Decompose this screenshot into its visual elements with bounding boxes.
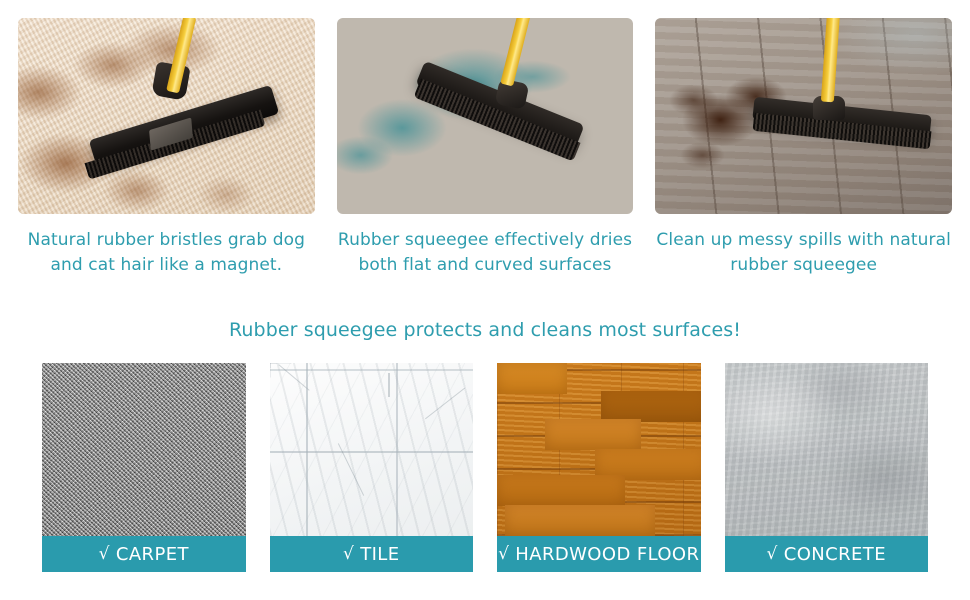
section-headline: Rubber squeegee protects and cleans most… (0, 319, 970, 341)
surface-card-hardwood: √ HARDWOOD FLOOR (497, 363, 701, 572)
marble-vein (388, 373, 390, 397)
swatch-white-marble-tile-texture (270, 363, 474, 536)
wood-plank (497, 475, 625, 506)
surface-label-tile: √ TILE (270, 536, 474, 572)
surface-label-text: HARDWOOD FLOOR (515, 544, 699, 565)
checkmark-icon: √ (343, 544, 354, 564)
photo-rubber-squeegee-drying-water-spill-on-grey-wood-floor (337, 18, 634, 214)
surface-label-carpet: √ CARPET (42, 536, 246, 572)
surface-card-carpet: √ CARPET (42, 363, 246, 572)
tile-grout-line (270, 369, 474, 371)
wood-floor-coffee-spill-scene (655, 18, 952, 214)
surface-card-tile: √ TILE (270, 363, 474, 572)
feature-caption: Rubber squeegee effectively dries both f… (337, 228, 634, 277)
surface-label-hardwood-floor: √ HARDWOOD FLOOR (497, 536, 701, 572)
swatch-grey-carpet-texture (42, 363, 246, 536)
feature-card-water-drying: Rubber squeegee effectively dries both f… (337, 18, 634, 277)
carpet-pet-hair-scene (18, 18, 315, 214)
wood-plank (545, 419, 641, 450)
checkmark-icon: √ (767, 544, 778, 564)
wood-floor-water-spill-scene (337, 18, 634, 214)
surface-label-text: CARPET (116, 544, 189, 565)
checkmark-icon: √ (99, 544, 110, 564)
photo-rubber-broom-on-beige-carpet-with-pet-hair (18, 18, 315, 214)
swatch-grey-concrete-texture (725, 363, 929, 536)
broom-handle-icon (821, 18, 840, 102)
wood-plank (497, 363, 567, 394)
feature-card-spill-cleanup: Clean up messy spills with natural rubbe… (655, 18, 952, 277)
feature-caption: Clean up messy spills with natural rubbe… (655, 228, 952, 277)
wood-plank (601, 391, 701, 422)
surface-label-text: CONCRETE (784, 544, 886, 565)
marble-vein (337, 443, 363, 496)
wood-plank (505, 505, 655, 536)
swatch-orange-hardwood-plank-texture (497, 363, 701, 536)
feature-row: Natural rubber bristles grab dog and cat… (0, 0, 970, 277)
checkmark-icon: √ (498, 544, 509, 564)
tile-grout-line (396, 363, 398, 536)
broom-handle-icon (500, 18, 531, 86)
feature-card-carpet-hair: Natural rubber bristles grab dog and cat… (18, 18, 315, 277)
marble-vein (424, 388, 464, 420)
surface-card-concrete: √ CONCRETE (725, 363, 929, 572)
feature-caption: Natural rubber bristles grab dog and cat… (18, 228, 315, 277)
surface-label-concrete: √ CONCRETE (725, 536, 929, 572)
photo-rubber-squeegee-sweeping-coffee-grounds-on-wood-floor (655, 18, 952, 214)
surface-row: √ CARPET √ TILE √ HARDWOOD FLOOR (0, 341, 970, 572)
surface-label-text: TILE (360, 544, 399, 565)
